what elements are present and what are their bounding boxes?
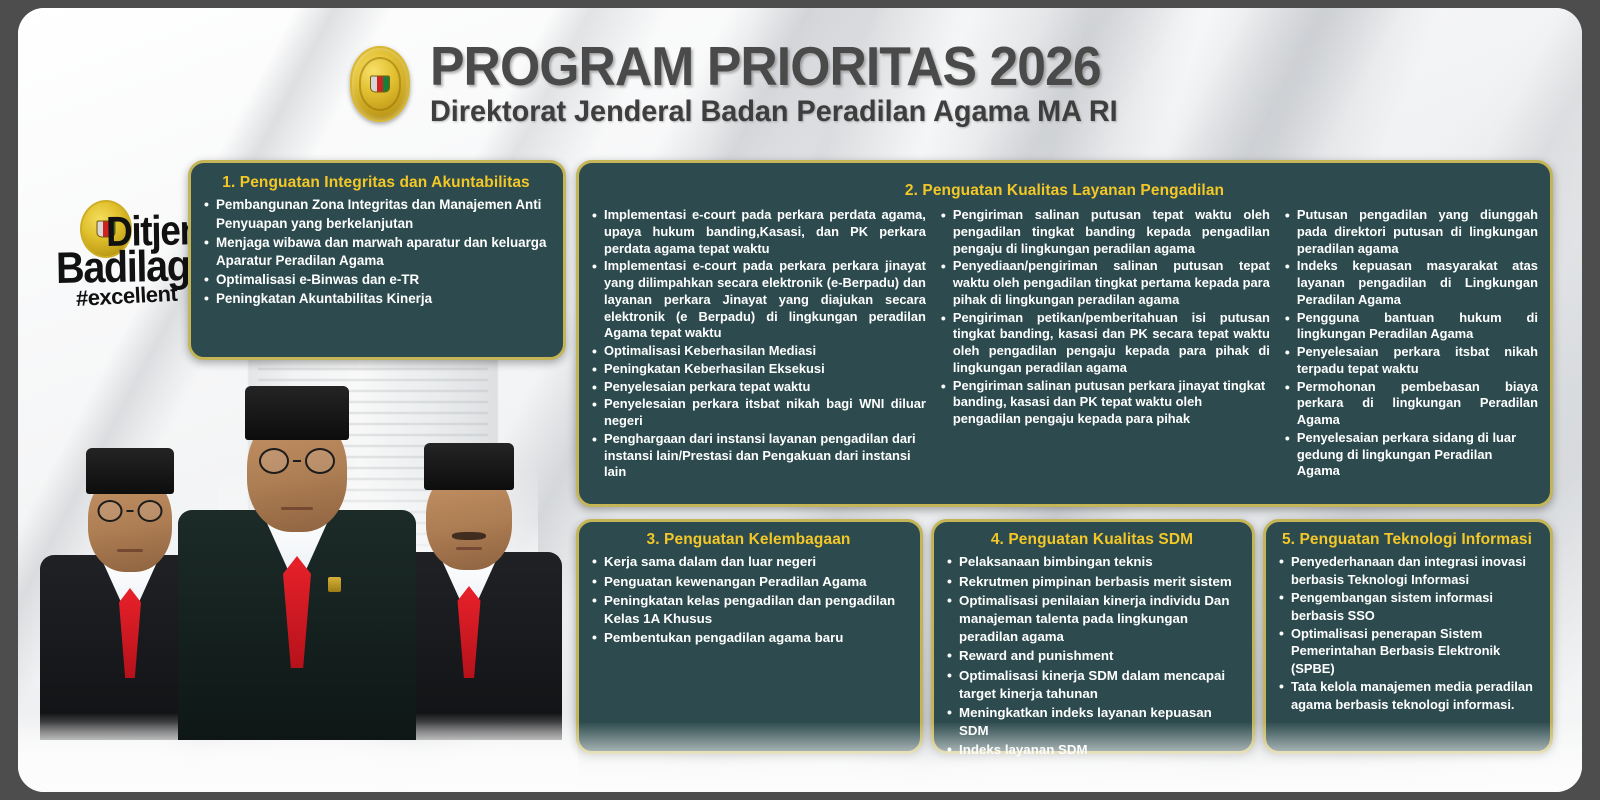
card-2-title: 2. Penguatan Kualitas Layanan Pengadilan	[579, 181, 1550, 200]
logo-line-3: #excellent	[75, 281, 178, 312]
card-2-title-wrap: 2. Penguatan Kualitas Layanan Pengadilan	[579, 181, 1550, 204]
official-center	[178, 340, 416, 740]
official-left-mouth	[117, 549, 143, 552]
list-item: Penyelesaian perkara tepat waktu	[591, 379, 926, 396]
emblem-shield-icon	[370, 76, 390, 93]
list-item: Pengiriman salinan putusan perkara jinay…	[940, 378, 1270, 428]
official-left-peci-cap	[86, 448, 174, 494]
list-item: Pengiriman salinan putusan tepat waktu o…	[940, 207, 1270, 257]
priority-card-4: 4. Penguatan Kualitas SDM Pelaksanaan bi…	[931, 519, 1255, 754]
list-item: Peningkatan Akuntabilitas Kinerja	[203, 290, 549, 308]
list-item: Pembentukan pengadilan agama baru	[591, 629, 906, 647]
card-5-title: 5. Penguatan Teknologi Informasi	[1278, 530, 1536, 549]
list-item: Pelaksanaan bimbingan teknis	[946, 553, 1238, 571]
list-item: Optimalisasi kinerja SDM dalam mencapai …	[946, 667, 1238, 703]
card-5-list: Penyederhanaan dan integrasi inovasi ber…	[1278, 553, 1536, 713]
card-3-list: Kerja sama dalam dan luar negeri Penguat…	[591, 553, 906, 647]
priority-card-1: 1. Penguatan Integritas dan Akuntabilita…	[188, 160, 566, 360]
list-item: Pengiriman petikan/pemberitahuan isi put…	[940, 310, 1270, 377]
list-item: Permohonan pembebasan biaya perkara di l…	[1284, 379, 1538, 429]
ditjen-badilag-logo: Ditjen Badilag #excellent	[46, 194, 206, 314]
list-item: Implementasi e-court pada perkara perkar…	[591, 258, 926, 342]
list-item: Indeks kepuasan masyarakat atas layanan …	[1284, 258, 1538, 308]
poster-header: PROGRAM PRIORITAS 2026 Direktorat Jender…	[18, 8, 1582, 158]
supreme-court-emblem-icon	[350, 46, 410, 122]
list-item: Pengguna bantuan hukum di lingkungan Per…	[1284, 310, 1538, 344]
list-item: Penguatan kewenangan Peradilan Agama	[591, 573, 906, 591]
official-right-mouth	[456, 547, 482, 550]
list-item: Penyederhanaan dan integrasi inovasi ber…	[1278, 553, 1536, 588]
card-4-title: 4. Penguatan Kualitas SDM	[946, 530, 1238, 549]
title-block: PROGRAM PRIORITAS 2026 Direktorat Jender…	[430, 38, 1146, 128]
official-right-peci-cap	[424, 443, 514, 490]
poster-canvas: PROGRAM PRIORITAS 2026 Direktorat Jender…	[18, 8, 1582, 792]
card-1-title: 1. Penguatan Integritas dan Akuntabilita…	[203, 173, 549, 192]
card-1-list: Pembangunan Zona Integritas dan Manajeme…	[203, 196, 549, 308]
list-item: Peningkatan Keberhasilan Eksekusi	[591, 361, 926, 378]
list-item: Optimalisasi e-Binwas dan e-TR	[203, 271, 549, 289]
list-item: Penyelesaian perkara sidang di luar gedu…	[1284, 430, 1538, 480]
official-center-glasses-icon	[259, 448, 335, 474]
card-3-title: 3. Penguatan Kelembagaan	[591, 530, 906, 549]
list-item: Kerja sama dalam dan luar negeri	[591, 553, 906, 571]
page-subtitle: Direktorat Jenderal Badan Peradilan Agam…	[430, 96, 1118, 128]
list-item: Peningkatan kelas pengadilan dan pengadi…	[591, 592, 906, 628]
official-center-lapel-pin-icon	[328, 577, 341, 592]
official-center-peci-cap	[245, 386, 349, 440]
list-item: Menjaga wibawa dan marwah aparatur dan k…	[203, 234, 549, 270]
list-item: Penghargaan dari instansi layanan pengad…	[591, 431, 926, 481]
priority-card-2: 2. Penguatan Kualitas Layanan Pengadilan…	[576, 160, 1553, 507]
list-item: Implementasi e-court pada perkara perdat…	[591, 207, 926, 257]
priority-card-5: 5. Penguatan Teknologi Informasi Penyede…	[1263, 519, 1553, 754]
card-2-columns: Implementasi e-court pada perkara perdat…	[591, 171, 1538, 482]
list-item: Optimalisasi penilaian kinerja individu …	[946, 592, 1238, 647]
page-title: PROGRAM PRIORITAS 2026	[430, 38, 1103, 94]
card-2-column-2: Pengiriman salinan putusan tepat waktu o…	[940, 207, 1270, 482]
list-item: Penyediaan/pengiriman salinan putusan te…	[940, 258, 1270, 308]
official-center-mouth	[281, 507, 313, 510]
official-right-moustache	[452, 532, 486, 540]
priority-card-3: 3. Penguatan Kelembagaan Kerja sama dala…	[576, 519, 923, 754]
list-item: Rekrutmen pimpinan berbasis merit sistem	[946, 573, 1238, 591]
card-2-column-3: Putusan pengadilan yang diunggah pada di…	[1284, 207, 1538, 482]
list-item: Tata kelola manajemen media peradilan ag…	[1278, 678, 1536, 713]
list-item: Pengembangan sistem informasi berbasis S…	[1278, 589, 1536, 624]
list-item: Pembangunan Zona Integritas dan Manajeme…	[203, 196, 549, 232]
card-2-column-1: Implementasi e-court pada perkara perdat…	[591, 207, 926, 482]
list-item: Optimalisasi penerapan Sistem Pemerintah…	[1278, 625, 1536, 677]
list-item: Optimalisasi Keberhasilan Mediasi	[591, 343, 926, 360]
list-item: Reward and punishment	[946, 647, 1238, 665]
list-item: Penyelesaian perkara itsbat nikah bagi W…	[591, 396, 926, 430]
list-item: Penyelesaian perkara itsbat nikah terpad…	[1284, 344, 1538, 378]
official-left-glasses-icon	[98, 500, 163, 522]
list-item: Putusan pengadilan yang diunggah pada di…	[1284, 207, 1538, 257]
